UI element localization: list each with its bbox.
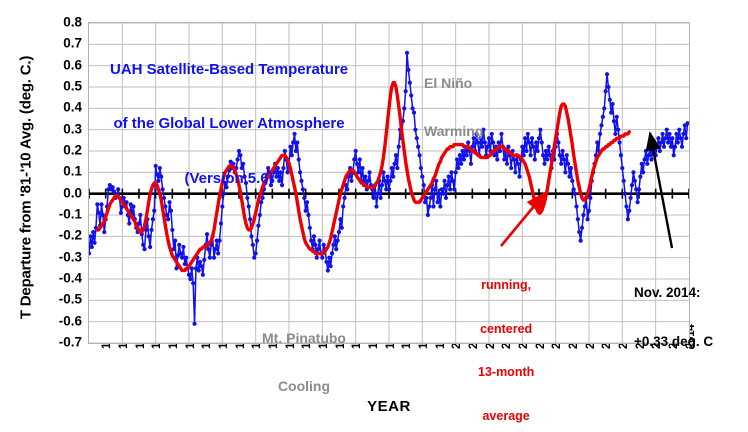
- data-point-marker: [91, 230, 95, 234]
- nov-line-1: Nov. 2014:: [634, 285, 713, 301]
- data-point-marker: [326, 268, 330, 272]
- data-point-marker: [659, 140, 663, 144]
- data-point-marker: [631, 170, 635, 174]
- data-point-marker: [679, 136, 683, 140]
- data-point-marker: [606, 85, 610, 89]
- data-point-marker: [183, 262, 187, 266]
- data-point-marker: [180, 256, 184, 260]
- data-point-marker: [426, 213, 430, 217]
- data-point-marker: [417, 153, 421, 157]
- data-point-marker: [436, 200, 440, 204]
- data-point-marker: [599, 123, 603, 127]
- data-point-marker: [527, 140, 531, 144]
- data-point-marker: [386, 175, 390, 179]
- data-point-marker: [649, 157, 653, 161]
- data-point-marker: [184, 256, 188, 260]
- data-point-marker: [366, 179, 370, 183]
- data-point-marker: [633, 179, 637, 183]
- data-point-marker: [615, 115, 619, 119]
- data-point-marker: [444, 196, 448, 200]
- el-nino-line-1: El Niño: [424, 75, 483, 91]
- data-point-marker: [329, 264, 333, 268]
- pinatubo-line-1: Mt. Pinatubo: [262, 330, 346, 346]
- data-point-marker: [147, 234, 151, 238]
- data-point-marker: [402, 106, 406, 110]
- data-point-marker: [641, 170, 645, 174]
- data-point-marker: [415, 136, 419, 140]
- data-point-marker: [89, 251, 91, 255]
- data-point-marker: [438, 204, 442, 208]
- data-point-marker: [179, 251, 183, 255]
- data-point-marker: [406, 68, 410, 72]
- data-point-marker: [177, 243, 181, 247]
- data-point-marker: [320, 256, 324, 260]
- data-point-marker: [491, 140, 495, 144]
- data-point-marker: [391, 175, 395, 179]
- data-point-marker: [411, 106, 415, 110]
- data-point-marker: [585, 217, 589, 221]
- data-point-marker: [610, 102, 614, 106]
- running-line-2: centered: [478, 322, 534, 337]
- data-point-marker: [392, 162, 396, 166]
- data-point-marker: [395, 166, 399, 170]
- data-point-marker: [308, 226, 312, 230]
- data-point-marker: [533, 157, 537, 161]
- data-point-marker: [251, 243, 255, 247]
- data-point-marker: [487, 136, 491, 140]
- data-point-marker: [645, 162, 649, 166]
- data-point-marker: [486, 145, 490, 149]
- data-point-marker: [638, 175, 642, 179]
- data-point-marker: [623, 192, 627, 196]
- data-point-marker: [616, 128, 620, 132]
- data-point-marker: [379, 196, 383, 200]
- data-point-marker: [541, 153, 545, 157]
- data-point-marker: [637, 187, 641, 191]
- title-line-1: UAH Satellite-Based Temperature: [110, 61, 348, 79]
- data-point-marker: [629, 196, 633, 200]
- data-point-marker: [192, 322, 196, 326]
- data-point-marker: [666, 140, 670, 144]
- data-point-marker: [524, 149, 528, 153]
- data-point-marker: [635, 200, 639, 204]
- data-point-marker: [420, 175, 424, 179]
- data-point-marker: [427, 204, 431, 208]
- data-point-marker: [627, 209, 631, 213]
- data-point-marker: [560, 149, 564, 153]
- data-point-marker: [205, 232, 209, 236]
- data-point-marker: [572, 187, 576, 191]
- data-point-marker: [648, 145, 652, 149]
- data-point-marker: [349, 179, 353, 183]
- data-point-marker: [581, 213, 585, 217]
- data-point-marker: [173, 239, 177, 243]
- data-point-marker: [181, 245, 185, 249]
- data-point-marker: [419, 166, 423, 170]
- data-point-marker: [512, 157, 516, 161]
- data-point-marker: [604, 89, 608, 93]
- data-point-marker: [669, 145, 673, 149]
- data-point-marker: [677, 128, 681, 132]
- data-point-marker: [97, 211, 101, 215]
- data-point-marker: [340, 226, 344, 230]
- data-point-marker: [545, 157, 549, 161]
- data-point-marker: [374, 204, 378, 208]
- el-nino-annotation: El Niño Warming: [424, 43, 483, 172]
- data-point-marker: [90, 245, 94, 249]
- data-point-marker: [334, 247, 338, 251]
- data-point-marker: [619, 153, 623, 157]
- data-point-marker: [684, 136, 688, 140]
- data-point-marker: [445, 183, 449, 187]
- data-point-marker: [187, 273, 191, 277]
- data-point-marker: [517, 175, 521, 179]
- data-point-marker: [201, 273, 205, 277]
- data-point-marker: [355, 162, 359, 166]
- data-point-marker: [448, 187, 452, 191]
- latest-value-annotation: Nov. 2014: +0.33 deg. C: [634, 253, 713, 383]
- mt-pinatubo-annotation: Mt. Pinatubo Cooling: [262, 298, 346, 427]
- data-point-marker: [309, 239, 313, 243]
- data-point-marker: [337, 230, 341, 234]
- data-point-marker: [654, 153, 658, 157]
- data-point-marker: [509, 166, 513, 170]
- data-point-marker: [249, 234, 253, 238]
- data-point-marker: [602, 106, 606, 110]
- data-point-marker: [315, 256, 319, 260]
- data-point-marker: [576, 217, 580, 221]
- running-average-annotation: running, centered 13-month average: [478, 249, 534, 432]
- data-point-marker: [208, 256, 212, 260]
- data-point-marker: [673, 145, 677, 149]
- data-point-marker: [433, 187, 437, 191]
- data-point-marker: [191, 281, 195, 285]
- data-point-marker: [322, 243, 326, 247]
- data-point-marker: [667, 132, 671, 136]
- title-line-3: (Version 5.6): [110, 170, 348, 188]
- data-point-marker: [537, 136, 541, 140]
- data-point-marker: [317, 239, 321, 243]
- data-point-marker: [580, 226, 584, 230]
- data-point-marker: [640, 162, 644, 166]
- running-line-1: running,: [478, 278, 534, 293]
- data-point-marker: [358, 157, 362, 161]
- data-point-marker: [409, 93, 413, 97]
- data-point-marker: [535, 149, 539, 153]
- data-point-marker: [605, 72, 609, 76]
- data-point-marker: [516, 162, 520, 166]
- data-point-marker: [451, 179, 455, 183]
- data-point-marker: [531, 145, 535, 149]
- data-point-marker: [559, 162, 563, 166]
- data-point-marker: [674, 132, 678, 136]
- data-point-marker: [534, 140, 538, 144]
- data-point-marker: [624, 204, 628, 208]
- data-point-marker: [367, 170, 371, 174]
- data-point-marker: [523, 136, 527, 140]
- data-point-marker: [316, 247, 320, 251]
- data-point-marker: [566, 162, 570, 166]
- data-point-marker: [452, 187, 456, 191]
- data-point-marker: [252, 256, 256, 260]
- data-point-marker: [622, 179, 626, 183]
- data-point-marker: [327, 256, 331, 260]
- data-point-marker: [612, 119, 616, 123]
- data-point-marker: [672, 153, 676, 157]
- data-point-marker: [412, 111, 416, 115]
- pinatubo-line-2: Cooling: [262, 378, 346, 394]
- data-point-marker: [333, 234, 337, 238]
- data-point-marker: [676, 140, 680, 144]
- data-point-marker: [565, 153, 569, 157]
- data-point-marker: [312, 234, 316, 238]
- data-point-marker: [662, 145, 666, 149]
- data-point-marker: [595, 140, 599, 144]
- data-point-marker: [376, 192, 380, 196]
- data-point-marker: [170, 228, 174, 232]
- data-point-marker: [587, 209, 591, 213]
- data-point-marker: [442, 179, 446, 183]
- chart-title: UAH Satellite-Based Temperature of the G…: [110, 24, 348, 225]
- data-point-marker: [142, 247, 146, 251]
- data-point-marker: [497, 140, 501, 144]
- data-point-marker: [213, 247, 217, 251]
- data-point-marker: [197, 268, 201, 272]
- title-line-2: of the Global Lower Atmosphere: [110, 115, 348, 133]
- data-point-marker: [440, 187, 444, 191]
- data-point-marker: [352, 157, 356, 161]
- running-line-4: average: [478, 409, 534, 424]
- data-point-marker: [563, 170, 567, 174]
- data-point-marker: [408, 81, 412, 85]
- data-point-marker: [490, 132, 494, 136]
- chart-page: T Departure from '81-'10 Avg. (deg. C.) …: [0, 0, 748, 432]
- data-point-marker: [380, 183, 384, 187]
- data-point-marker: [423, 200, 427, 204]
- data-point-marker: [609, 111, 613, 115]
- el-nino-line-2: Warming: [424, 123, 483, 139]
- data-point-marker: [390, 166, 394, 170]
- data-point-marker: [422, 183, 426, 187]
- data-point-marker: [383, 179, 387, 183]
- data-point-marker: [520, 145, 524, 149]
- data-point-marker: [102, 230, 106, 234]
- data-point-marker: [613, 132, 617, 136]
- data-point-marker: [361, 166, 365, 170]
- data-point-marker: [547, 145, 551, 149]
- data-point-marker: [526, 132, 530, 136]
- data-point-marker: [313, 243, 317, 247]
- data-point-marker: [388, 179, 392, 183]
- data-point-marker: [387, 187, 391, 191]
- data-point-marker: [141, 243, 145, 247]
- data-point-marker: [542, 162, 546, 166]
- data-point-marker: [198, 260, 202, 264]
- data-point-marker: [92, 241, 96, 245]
- data-point-marker: [99, 202, 103, 206]
- data-point-marker: [656, 136, 660, 140]
- data-point-marker: [354, 149, 358, 153]
- data-point-marker: [95, 202, 99, 206]
- data-point-marker: [567, 175, 571, 179]
- data-point-marker: [372, 196, 376, 200]
- data-point-marker: [538, 128, 542, 132]
- data-point-marker: [331, 243, 335, 247]
- data-point-marker: [556, 140, 560, 144]
- data-point-marker: [324, 260, 328, 264]
- data-point-marker: [647, 153, 651, 157]
- data-point-marker: [148, 245, 152, 249]
- data-point-marker: [577, 230, 581, 234]
- data-point-marker: [499, 132, 503, 136]
- data-point-marker: [574, 204, 578, 208]
- nov-line-2: +0.33 deg. C: [634, 334, 713, 350]
- data-point-marker: [513, 170, 517, 174]
- data-point-marker: [495, 157, 499, 161]
- data-point-marker: [254, 251, 258, 255]
- data-point-marker: [530, 136, 534, 140]
- data-point-marker: [579, 239, 583, 243]
- data-point-marker: [569, 166, 573, 170]
- data-point-marker: [626, 217, 630, 221]
- data-point-marker: [670, 136, 674, 140]
- data-point-marker: [404, 89, 408, 93]
- data-point-marker: [394, 153, 398, 157]
- data-point-marker: [608, 98, 612, 102]
- data-point-marker: [216, 251, 220, 255]
- data-point-marker: [558, 153, 562, 157]
- data-point-marker: [573, 192, 577, 196]
- data-point-marker: [665, 128, 669, 132]
- running-line-3: 13-month: [478, 365, 534, 380]
- data-point-marker: [330, 251, 334, 255]
- data-point-marker: [544, 149, 548, 153]
- data-point-marker: [681, 132, 685, 136]
- data-point-marker: [651, 149, 655, 153]
- data-point-marker: [620, 166, 624, 170]
- data-point-marker: [217, 239, 221, 243]
- data-point-marker: [188, 277, 192, 281]
- data-point-marker: [502, 157, 506, 161]
- data-point-marker: [429, 196, 433, 200]
- data-point-marker: [441, 192, 445, 196]
- data-point-marker: [529, 153, 533, 157]
- data-point-marker: [680, 145, 684, 149]
- data-point-marker: [617, 140, 621, 144]
- data-point-marker: [416, 145, 420, 149]
- data-point-marker: [583, 204, 587, 208]
- data-point-marker: [413, 128, 417, 132]
- data-point-marker: [363, 175, 367, 179]
- data-point-marker: [255, 239, 259, 243]
- data-point-marker: [630, 183, 634, 187]
- data-point-marker: [405, 51, 409, 55]
- data-point-marker: [663, 136, 667, 140]
- data-point-marker: [212, 256, 216, 260]
- data-point-marker: [336, 239, 340, 243]
- data-point-marker: [601, 115, 605, 119]
- data-point-marker: [397, 145, 401, 149]
- data-point-marker: [652, 140, 656, 144]
- data-point-marker: [437, 192, 441, 196]
- data-point-marker: [588, 196, 592, 200]
- data-point-marker: [202, 258, 206, 262]
- data-point-marker: [570, 179, 574, 183]
- data-point-marker: [660, 132, 664, 136]
- data-point-marker: [598, 132, 602, 136]
- data-point-marker: [562, 157, 566, 161]
- data-point-marker: [431, 204, 435, 208]
- data-point-marker: [540, 140, 544, 144]
- data-point-marker: [642, 157, 646, 161]
- data-point-marker: [149, 228, 153, 232]
- data-point-marker: [505, 162, 509, 166]
- data-point-marker: [655, 145, 659, 149]
- data-point-marker: [644, 149, 648, 153]
- data-point-marker: [658, 149, 662, 153]
- data-point-marker: [447, 175, 451, 179]
- data-point-marker: [199, 264, 203, 268]
